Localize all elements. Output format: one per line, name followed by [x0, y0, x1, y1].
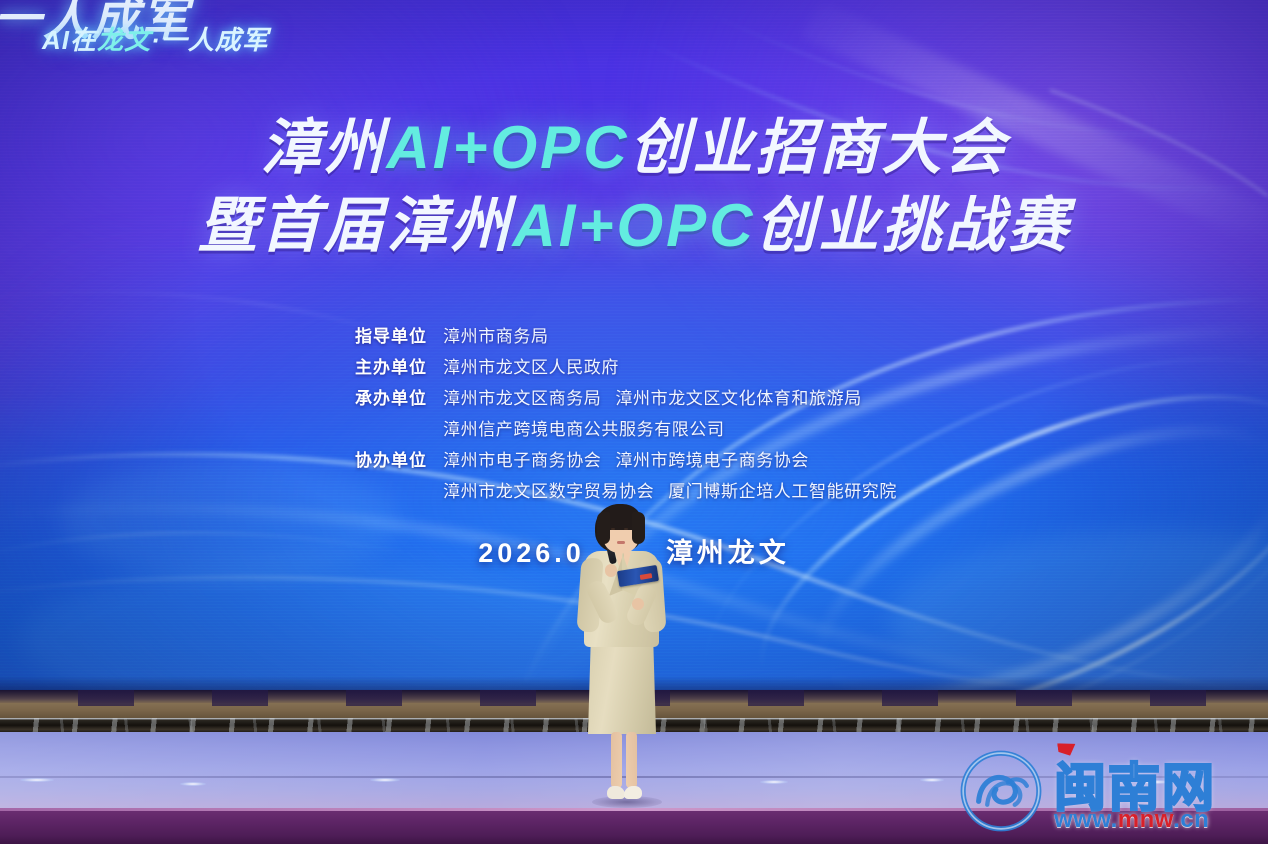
presenter-hair-side-right	[632, 512, 645, 544]
title2-part-a: 暨首届漳州	[197, 192, 512, 259]
credit-value: 漳州市龙文区人民政府	[443, 353, 619, 378]
site-watermark: 闽南网 www.mnw.cn	[958, 744, 1258, 836]
title1-part-c: 创业招商大会	[630, 114, 1008, 181]
corner-slogan-ai: AI	[42, 25, 70, 55]
watermark-url: www.mnw.cn	[1054, 806, 1209, 834]
title1-part-a: 漳州	[260, 114, 386, 181]
credit-org: 漳州市电子商务协会	[443, 451, 601, 470]
credit-row: 承办单位 漳州市龙文区商务局漳州市龙文区文化体育和旅游局	[341, 384, 927, 409]
credit-org: 漳州市龙文区商务局	[443, 389, 601, 408]
event-title-line-1: 漳州AI+OPC创业招商大会	[0, 118, 1268, 178]
credit-value: 漳州市电子商务协会漳州市跨境电子商务协会	[443, 446, 809, 471]
floor-glint	[760, 780, 788, 784]
credit-org: 漳州市龙文区人民政府	[443, 358, 619, 377]
credit-org: 厦门博斯企培人工智能研究院	[668, 482, 897, 501]
presenter-skirt	[588, 642, 656, 734]
floor-glint	[920, 778, 944, 782]
floor-glint	[20, 778, 54, 782]
credit-label: 承办单位	[341, 384, 427, 409]
credit-row: 协办单位 漳州市电子商务协会漳州市跨境电子商务协会	[341, 446, 927, 471]
presenter-mouth	[617, 541, 625, 544]
title2-part-ai: AI+OPC	[512, 192, 755, 259]
credit-org: 漳州市商务局	[443, 327, 549, 346]
presenter-hand-left	[605, 564, 617, 577]
credit-value: 漳州市商务局	[443, 322, 549, 347]
credit-value: 漳州市龙文区商务局漳州市龙文区文化体育和旅游局	[443, 384, 862, 409]
event-title-line-2: 暨首届漳州AI+OPC创业挑战赛	[0, 196, 1268, 256]
url-suffix: .cn	[1173, 806, 1209, 833]
url-brand: mnw	[1118, 806, 1173, 833]
corner-slogan-logo: 一人成军 AI在龙文·一人成军	[0, 0, 300, 68]
presenter-hair-side-left	[597, 512, 610, 544]
credit-row: 漳州信产跨境电商公共服务有限公司	[341, 415, 927, 440]
credit-org: 漳州信产跨境电商公共服务有限公司	[443, 420, 725, 439]
corner-slogan-suffix: ·一人成军	[151, 25, 269, 55]
credit-value: 漳州市龙文区数字贸易协会厦门博斯企培人工智能研究院	[443, 477, 897, 502]
credit-row: 漳州市龙文区数字贸易协会厦门博斯企培人工智能研究院	[341, 477, 927, 502]
credit-org: 漳州市跨境电子商务协会	[615, 451, 809, 470]
credit-label: 协办单位	[341, 446, 427, 471]
floor-glint	[180, 782, 206, 786]
presenter-shoe-left	[607, 786, 625, 799]
credit-row: 指导单位 漳州市商务局	[341, 322, 927, 347]
credit-label: 主办单位	[341, 353, 427, 378]
url-prefix: www.	[1054, 806, 1118, 833]
presenter-host	[566, 504, 702, 810]
floor-glint	[370, 778, 400, 782]
presenter-eye-right	[624, 528, 628, 530]
credit-label: 指导单位	[341, 322, 427, 347]
organizer-credits-list: 指导单位 漳州市商务局 主办单位 漳州市龙文区人民政府 承办单位 漳州市龙文区商…	[0, 322, 1268, 502]
conference-stage-photo: 一人成军 AI在龙文·一人成军 漳州AI+OPC创业招商大会 暨首届漳州AI+O…	[0, 0, 1268, 844]
credit-value: 漳州信产跨境电商公共服务有限公司	[443, 415, 725, 440]
corner-slogan-longwen: 龙文	[97, 25, 151, 55]
presenter-leg-left	[611, 732, 622, 788]
credit-org: 漳州市龙文区数字贸易协会	[443, 482, 654, 501]
presenter-eye-left	[611, 528, 615, 530]
presenter-leg-right	[626, 732, 637, 788]
corner-slogan-zai: 在	[70, 25, 97, 55]
title1-part-ai: AI+OPC	[386, 114, 629, 181]
presenter-shoe-right	[624, 786, 642, 799]
credit-org: 漳州市龙文区文化体育和旅游局	[615, 389, 861, 408]
credit-row: 主办单位 漳州市龙文区人民政府	[341, 353, 927, 378]
mnw-logo-icon	[958, 748, 1044, 834]
presenter-hand-right	[632, 598, 644, 610]
title2-part-c: 创业挑战赛	[756, 192, 1071, 259]
event-title-block: 漳州AI+OPC创业招商大会 暨首届漳州AI+OPC创业挑战赛	[0, 118, 1268, 256]
corner-slogan-line: AI在龙文·一人成军	[42, 20, 269, 57]
